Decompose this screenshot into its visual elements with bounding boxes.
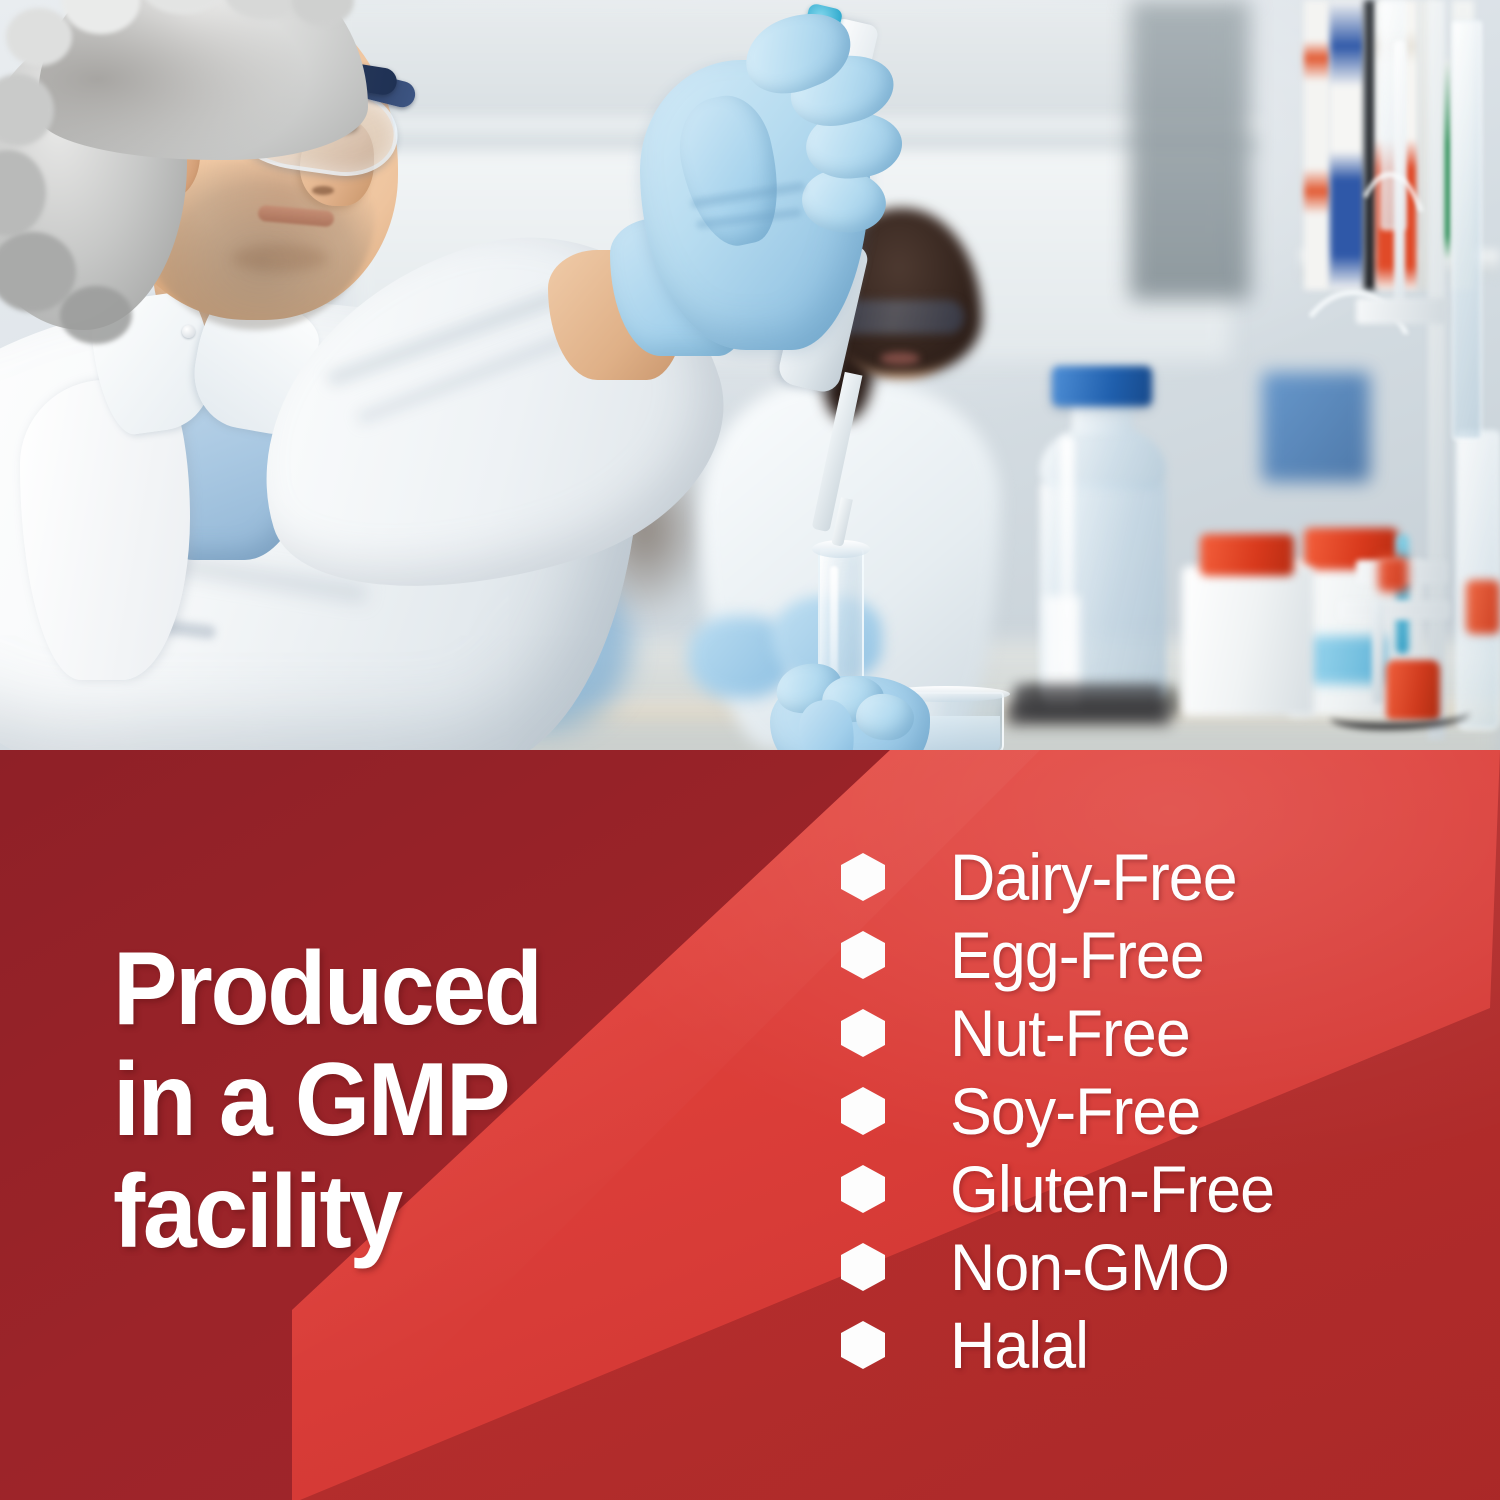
list-item: Non-GMO [841,1228,1291,1306]
chin-shadow [232,244,328,272]
hexagon-bullet-icon [841,1009,885,1057]
shirt-button [182,325,195,338]
red-stopper [1378,556,1408,592]
list-item: Halal [841,1306,1291,1384]
list-item: Gluten-Free [841,1150,1291,1228]
feature-label: Dairy-Free [950,844,1237,910]
hexagon-bullet-icon [841,1243,885,1291]
retort-stand-rod [1428,0,1445,740]
stand-clamp [1338,600,1450,620]
red-stopper [1466,580,1500,634]
burette [1452,20,1482,440]
ph-probe [1396,534,1409,654]
technician-mouth [880,352,920,365]
list-item: Egg-Free [841,916,1291,994]
feature-label: Egg-Free [950,922,1204,988]
reagent-bottle-blue-cap [1052,366,1152,406]
list-item: Nut-Free [841,994,1291,1072]
hotplate [1014,684,1164,718]
glass-highlight [1060,436,1074,676]
product-feature-banner: Produced in a GMP facility Dairy-Free Eg… [0,0,1500,1500]
nostril [312,186,334,195]
hexagon-bullet-icon [841,1321,885,1369]
list-item: Dairy-Free [841,838,1291,916]
feature-label: Soy-Free [950,1078,1200,1144]
list-item: Soy-Free [841,1072,1291,1150]
hexagon-bullet-icon [841,1165,885,1213]
binder-spine [1304,0,1330,290]
hexagon-bullet-icon [841,1087,885,1135]
feature-label: Halal [950,1312,1088,1378]
hair-curl [6,8,72,66]
feature-label: Non-GMO [950,1234,1229,1300]
hexagon-bullet-icon [841,853,885,901]
lab-cabinet [1130,0,1250,300]
jerrycan-body [1182,566,1314,716]
jerrycan-red-cap [1200,534,1294,576]
page-title: Produced in a GMP facility [113,934,708,1268]
feature-label: Nut-Free [950,1000,1190,1066]
laboratory-photo [0,0,1500,750]
stand-clamp [1356,298,1448,324]
hair-curl [60,286,132,344]
hexagon-bullet-icon [841,931,885,979]
feature-label: Gluten-Free [950,1156,1274,1222]
electrode-probe [1372,600,1384,704]
feature-list: Dairy-Free Egg-Free Nut-Free Soy-Free Gl… [841,838,1291,1384]
